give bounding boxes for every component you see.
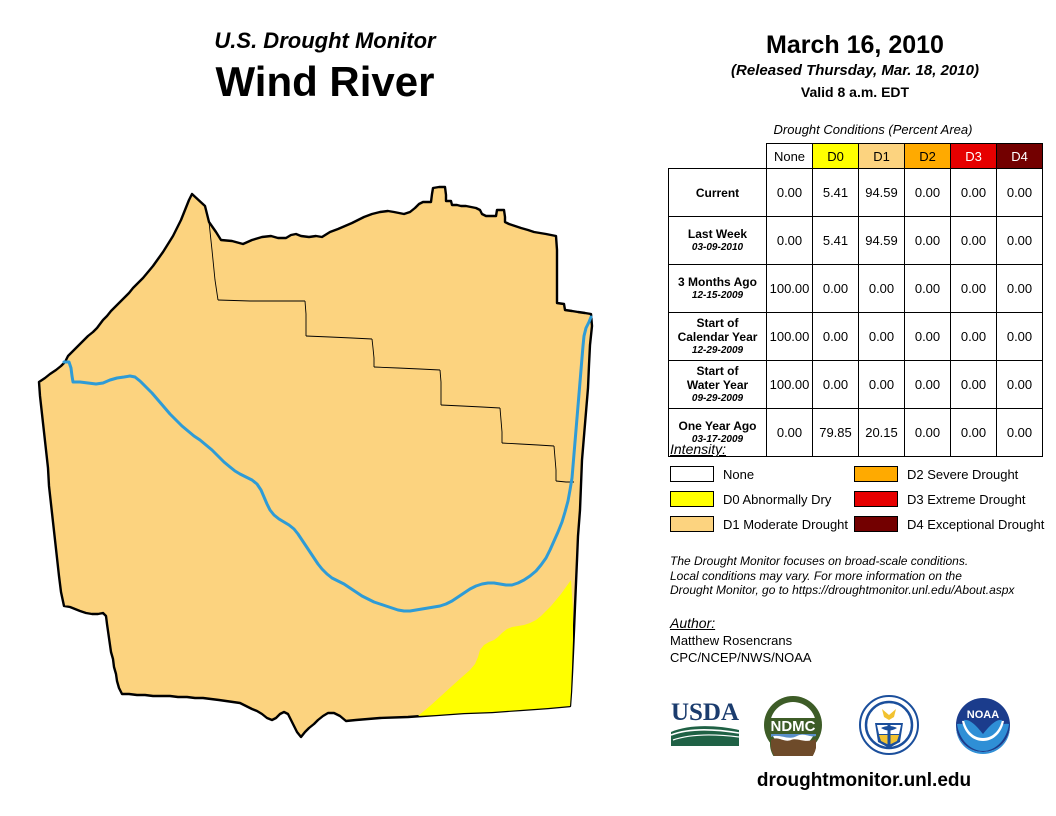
table-row: Current0.005.4194.590.000.000.00 bbox=[669, 169, 1043, 217]
cell-none: 100.00 bbox=[767, 313, 813, 361]
row-label: 3 Months Ago12-15-2009 bbox=[669, 265, 767, 313]
row-label-date: 09-29-2009 bbox=[672, 392, 763, 405]
disclaimer-text: The Drought Monitor focuses on broad-sca… bbox=[670, 554, 1050, 598]
author-affiliation: CPC/NCEP/NWS/NOAA bbox=[670, 649, 1050, 666]
legend-item: D0 Abnormally Dry bbox=[670, 488, 854, 510]
cell-d2: 0.00 bbox=[905, 361, 951, 409]
disclaimer-line-3: Drought Monitor, go to https://droughtmo… bbox=[670, 583, 1050, 598]
drought-map[interactable] bbox=[0, 140, 660, 780]
cell-d1: 94.59 bbox=[859, 217, 905, 265]
cell-d1: 0.00 bbox=[859, 361, 905, 409]
cell-none: 100.00 bbox=[767, 361, 813, 409]
legend-label: D0 Abnormally Dry bbox=[723, 492, 831, 507]
legend-label: D4 Exceptional Drought bbox=[907, 517, 1044, 532]
legend-grid: NoneD2 Severe DroughtD0 Abnormally DryD3… bbox=[670, 463, 1050, 535]
ndmc-logo[interactable]: NDMC bbox=[760, 694, 826, 756]
map-date: March 16, 2010 bbox=[660, 30, 1050, 60]
row-label: Start ofCalendar Year12-29-2009 bbox=[669, 313, 767, 361]
column-header-d3: D3 bbox=[951, 144, 997, 169]
ndmc-land-shape bbox=[771, 738, 816, 756]
cell-d1: 0.00 bbox=[859, 265, 905, 313]
legend-swatch bbox=[854, 466, 898, 482]
author-heading: Author: bbox=[670, 614, 1050, 632]
table-row: Start ofCalendar Year12-29-2009100.000.0… bbox=[669, 313, 1043, 361]
date-block: March 16, 2010 (Released Thursday, Mar. … bbox=[660, 30, 1050, 102]
legend-label: D1 Moderate Drought bbox=[723, 517, 848, 532]
column-header-none: None bbox=[767, 144, 813, 169]
row-label: Last Week03-09-2010 bbox=[669, 217, 767, 265]
author-name: Matthew Rosencrans bbox=[670, 632, 1050, 649]
cell-d1: 0.00 bbox=[859, 313, 905, 361]
valid-time: Valid 8 a.m. EDT bbox=[660, 83, 1050, 102]
row-label: Start ofWater Year09-29-2009 bbox=[669, 361, 767, 409]
site-url[interactable]: droughtmonitor.unl.edu bbox=[660, 770, 1056, 792]
legend-item: None bbox=[670, 463, 854, 485]
cell-d2: 0.00 bbox=[905, 265, 951, 313]
cell-d0: 5.41 bbox=[813, 169, 859, 217]
cell-d4: 0.00 bbox=[997, 313, 1043, 361]
cell-none: 100.00 bbox=[767, 265, 813, 313]
table-header-row: None D0 D1 D2 D3 D4 bbox=[669, 144, 1043, 169]
cell-d3: 0.00 bbox=[951, 265, 997, 313]
info-panel: March 16, 2010 (Released Thursday, Mar. … bbox=[660, 0, 1056, 816]
cell-d4: 0.00 bbox=[997, 361, 1043, 409]
column-header-d0: D0 bbox=[813, 144, 859, 169]
table-header-blank bbox=[669, 144, 767, 169]
cell-d0: 0.00 bbox=[813, 361, 859, 409]
column-header-d2: D2 bbox=[905, 144, 951, 169]
table-row: 3 Months Ago12-15-2009100.000.000.000.00… bbox=[669, 265, 1043, 313]
table-row: Start ofWater Year09-29-2009100.000.000.… bbox=[669, 361, 1043, 409]
cell-d0: 0.00 bbox=[813, 265, 859, 313]
author-block: Author: Matthew Rosencrans CPC/NCEP/NWS/… bbox=[670, 614, 1050, 666]
cell-d4: 0.00 bbox=[997, 265, 1043, 313]
cell-d0: 0.00 bbox=[813, 313, 859, 361]
row-label-date: 12-15-2009 bbox=[672, 289, 763, 302]
drought-conditions-table: None D0 D1 D2 D3 D4 Current0.005.4194.59… bbox=[668, 143, 1043, 457]
legend-swatch bbox=[670, 466, 714, 482]
cell-none: 0.00 bbox=[767, 169, 813, 217]
noaa-logo-text: NOAA bbox=[967, 709, 999, 721]
legend-item: D1 Moderate Drought bbox=[670, 513, 854, 535]
doc-seal-logo[interactable] bbox=[856, 694, 922, 756]
cell-d4: 0.00 bbox=[997, 169, 1043, 217]
cell-d3: 0.00 bbox=[951, 361, 997, 409]
cell-d0: 5.41 bbox=[813, 217, 859, 265]
legend-label: D3 Extreme Drought bbox=[907, 492, 1026, 507]
cell-d3: 0.00 bbox=[951, 313, 997, 361]
column-header-d4: D4 bbox=[997, 144, 1043, 169]
table-body: Current0.005.4194.590.000.000.00Last Wee… bbox=[669, 169, 1043, 457]
legend-swatch bbox=[670, 491, 714, 507]
row-label-date: 12-29-2009 bbox=[672, 344, 763, 357]
cell-none: 0.00 bbox=[767, 217, 813, 265]
cell-d4: 0.00 bbox=[997, 217, 1043, 265]
legend-label: D2 Severe Drought bbox=[907, 467, 1018, 482]
legend-item: D3 Extreme Drought bbox=[854, 488, 1050, 510]
logo-row: USDA NDMC bbox=[660, 694, 1056, 764]
release-date: (Released Thursday, Mar. 18, 2010) bbox=[660, 61, 1050, 81]
intensity-heading: Intensity: bbox=[670, 441, 1050, 457]
cell-d2: 0.00 bbox=[905, 217, 951, 265]
program-title: U.S. Drought Monitor bbox=[0, 28, 660, 54]
ndmc-logo-text: NDMC bbox=[771, 718, 816, 735]
legend-swatch bbox=[854, 516, 898, 532]
legend-label: None bbox=[723, 467, 754, 482]
map-svg bbox=[0, 140, 660, 780]
legend-item: D4 Exceptional Drought bbox=[854, 513, 1050, 535]
region-title: Wind River bbox=[0, 56, 660, 108]
title-block: U.S. Drought Monitor Wind River bbox=[0, 28, 660, 108]
column-header-d1: D1 bbox=[859, 144, 905, 169]
cell-d3: 0.00 bbox=[951, 217, 997, 265]
cell-d2: 0.00 bbox=[905, 313, 951, 361]
usda-logo-text: USDA bbox=[671, 699, 739, 726]
legend-item: D2 Severe Drought bbox=[854, 463, 1050, 485]
cell-d1: 94.59 bbox=[859, 169, 905, 217]
cell-d2: 0.00 bbox=[905, 169, 951, 217]
intensity-legend: Intensity: NoneD2 Severe DroughtD0 Abnor… bbox=[670, 441, 1050, 535]
cell-d3: 0.00 bbox=[951, 169, 997, 217]
row-label-date: 03-09-2010 bbox=[672, 241, 763, 254]
drought-conditions-table-wrap: None D0 D1 D2 D3 D4 Current0.005.4194.59… bbox=[668, 143, 1046, 457]
disclaimer-line-1: The Drought Monitor focuses on broad-sca… bbox=[670, 554, 1050, 569]
row-label: Current bbox=[669, 169, 767, 217]
usda-logo[interactable]: USDA bbox=[665, 694, 745, 752]
table-row: Last Week03-09-20100.005.4194.590.000.00… bbox=[669, 217, 1043, 265]
legend-swatch bbox=[670, 516, 714, 532]
noaa-logo[interactable]: NOAA bbox=[950, 694, 1016, 756]
map-panel: U.S. Drought Monitor Wind River bbox=[0, 0, 660, 816]
disclaimer-line-2: Local conditions may vary. For more info… bbox=[670, 569, 1050, 584]
legend-swatch bbox=[854, 491, 898, 507]
table-caption: Drought Conditions (Percent Area) bbox=[660, 122, 1056, 137]
